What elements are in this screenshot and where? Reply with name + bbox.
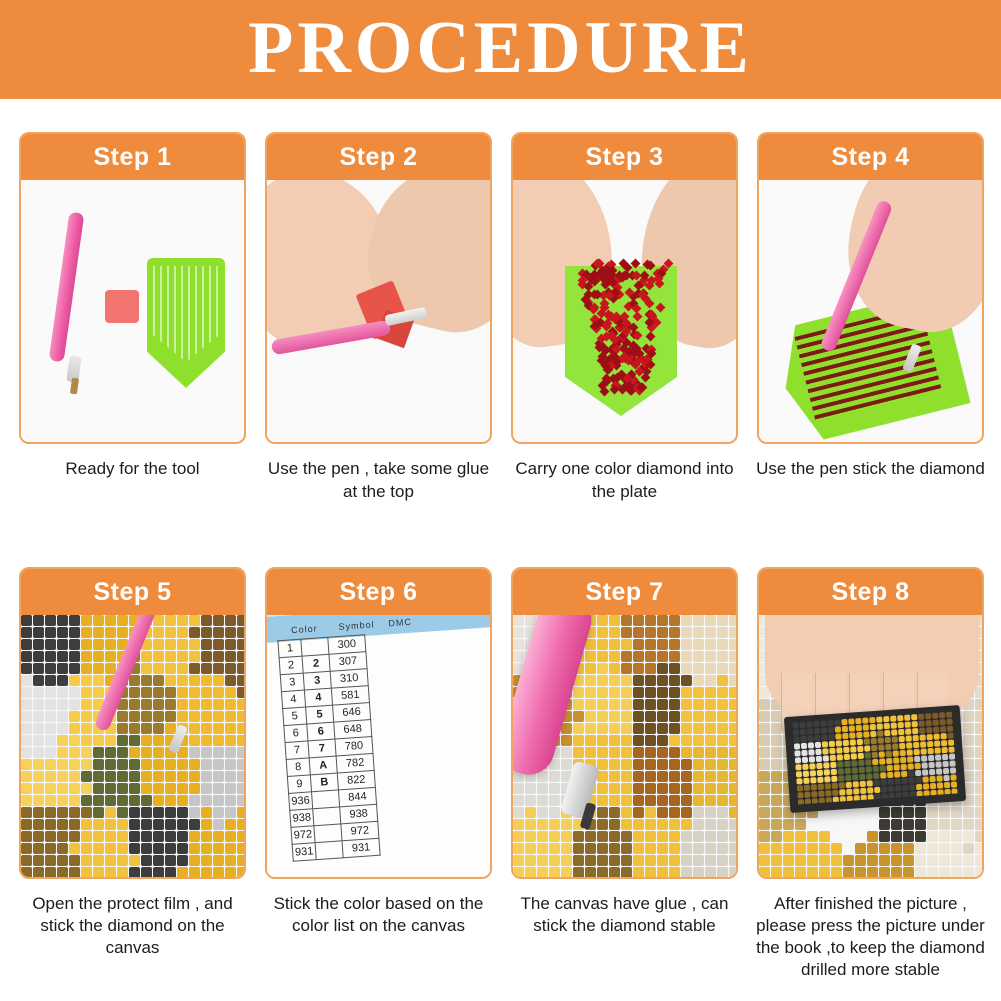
diamond-bead bbox=[795, 867, 806, 877]
diamond-bead bbox=[21, 759, 32, 770]
diamond-bead bbox=[669, 663, 680, 674]
chart-row-symbol: 5 bbox=[306, 705, 334, 724]
diamond-bead bbox=[237, 819, 244, 830]
diamond-bead bbox=[926, 734, 932, 740]
pen-nib-icon bbox=[70, 378, 79, 395]
diamond-bead bbox=[225, 687, 236, 698]
diamond-bead bbox=[225, 675, 236, 686]
diamond-bead bbox=[129, 843, 140, 854]
step-card-3: Step 3 Carry one color diamond into the … bbox=[511, 132, 738, 504]
diamond-bead bbox=[831, 843, 842, 854]
diamond-bead bbox=[895, 785, 901, 791]
diamond-bead bbox=[117, 735, 128, 746]
diamond-bead bbox=[45, 819, 56, 830]
diamond-bead bbox=[201, 759, 212, 770]
diamond-bead bbox=[975, 747, 982, 758]
diamond-bead bbox=[798, 799, 804, 804]
diamond-bead bbox=[903, 855, 914, 866]
diamond-bead bbox=[165, 843, 176, 854]
diamond-bead bbox=[537, 867, 548, 877]
diamond-bead bbox=[915, 819, 926, 830]
diamond-bead bbox=[513, 639, 524, 650]
diamond-bead bbox=[33, 771, 44, 782]
diamond-bead bbox=[201, 651, 212, 662]
diamond-bead bbox=[855, 831, 866, 842]
diamond-bead bbox=[585, 663, 596, 674]
diamond-bead bbox=[237, 699, 244, 710]
diamond-bead bbox=[93, 867, 104, 877]
diamond-bead bbox=[57, 843, 68, 854]
diamond-bead bbox=[878, 737, 884, 743]
diamond-bead bbox=[912, 728, 918, 734]
diamond-bead bbox=[585, 735, 596, 746]
diamond-bead bbox=[900, 750, 906, 756]
diamond-bead bbox=[759, 855, 770, 866]
diamond-bead bbox=[951, 807, 962, 818]
diamond-bead bbox=[898, 722, 904, 728]
diamond-bead bbox=[915, 770, 921, 776]
diamond-bead bbox=[597, 651, 608, 662]
diamond-bead bbox=[940, 733, 946, 739]
step-2-caption: Use the pen , take some glue at the top bbox=[263, 458, 494, 504]
diamond-bead bbox=[21, 663, 32, 674]
diamond-bead bbox=[669, 843, 680, 854]
diamond-bead bbox=[105, 639, 116, 650]
diamond-bead bbox=[927, 819, 938, 830]
diamond-bead bbox=[213, 711, 224, 722]
diamond-bead bbox=[645, 627, 656, 638]
diamond-bead bbox=[717, 819, 728, 830]
diamond-bead bbox=[947, 725, 953, 731]
diamond-bead bbox=[792, 722, 798, 728]
diamond-bead bbox=[57, 639, 68, 650]
diamond-bead bbox=[934, 740, 940, 746]
diamond-bead bbox=[69, 639, 80, 650]
diamond-bead bbox=[69, 675, 80, 686]
diamond-bead bbox=[827, 720, 833, 726]
chart-row-number: 8 bbox=[286, 758, 310, 777]
diamond-bead bbox=[934, 747, 940, 753]
diamond-bead bbox=[129, 747, 140, 758]
diamond-bead bbox=[57, 771, 68, 782]
diamond-bead bbox=[860, 788, 866, 794]
diamond-bead bbox=[225, 855, 236, 866]
diamond-bead bbox=[904, 714, 910, 720]
diamond-bead bbox=[891, 819, 902, 830]
diamond-bead bbox=[621, 867, 632, 877]
chart-row-symbol: 3 bbox=[303, 671, 331, 690]
diamond-bead bbox=[621, 735, 632, 746]
chart-row-symbol: 2 bbox=[302, 654, 330, 673]
diamond-bead bbox=[513, 783, 524, 794]
diamond-bead bbox=[927, 831, 938, 842]
diamond-bead bbox=[804, 785, 810, 791]
diamond-bead bbox=[69, 855, 80, 866]
diamond-bead bbox=[609, 675, 620, 686]
diamond-bead bbox=[669, 639, 680, 650]
diamond-bead bbox=[237, 735, 244, 746]
diamond-bead bbox=[585, 675, 596, 686]
diamond-bead bbox=[783, 819, 794, 830]
diamond-bead bbox=[609, 687, 620, 698]
diamond-bead bbox=[681, 759, 692, 770]
diamond-bead bbox=[153, 615, 164, 626]
diamond-bead bbox=[831, 769, 837, 775]
diamond-bead bbox=[939, 843, 950, 854]
wax-block-icon bbox=[105, 290, 139, 323]
diamond-bead bbox=[621, 651, 632, 662]
diamond-bead bbox=[810, 777, 816, 783]
diamond-bead bbox=[621, 747, 632, 758]
diamond-bead bbox=[57, 615, 68, 626]
diamond-bead bbox=[867, 831, 878, 842]
diamond-bead bbox=[823, 755, 829, 761]
diamond-bead bbox=[963, 819, 974, 830]
diamond-bead bbox=[237, 855, 244, 866]
diamond-bead bbox=[633, 687, 644, 698]
diamond-bead bbox=[213, 783, 224, 794]
diamond-bead bbox=[901, 771, 907, 777]
diamond-bead bbox=[870, 731, 876, 737]
framed-canvas bbox=[792, 712, 957, 805]
diamond-bead bbox=[513, 855, 524, 866]
diamond-bead bbox=[525, 783, 536, 794]
diamond-bead bbox=[867, 780, 873, 786]
diamond-bead bbox=[141, 807, 152, 818]
diamond-bead bbox=[681, 855, 692, 866]
diamond-bead bbox=[237, 831, 244, 842]
diamond-bead bbox=[867, 855, 878, 866]
diamond-bead bbox=[851, 753, 857, 759]
diamond-bead bbox=[645, 747, 656, 758]
diamond-bead bbox=[831, 819, 842, 830]
diamond-bead bbox=[645, 299, 655, 309]
diamond-bead bbox=[549, 807, 560, 818]
diamond-bead bbox=[33, 735, 44, 746]
diamond-bead bbox=[705, 867, 716, 877]
diamond-bead bbox=[705, 615, 716, 626]
diamond-bead bbox=[681, 711, 692, 722]
diamond-bead bbox=[927, 843, 938, 854]
diamond-bead bbox=[537, 795, 548, 806]
diamond-bead bbox=[45, 699, 56, 710]
diamond-bead bbox=[597, 771, 608, 782]
diamond-bead bbox=[141, 795, 152, 806]
diamond-bead bbox=[717, 855, 728, 866]
diamond-bead bbox=[225, 615, 236, 626]
diamond-bead bbox=[645, 615, 656, 626]
diamond-bead bbox=[177, 795, 188, 806]
diamond-bead bbox=[45, 687, 56, 698]
diamond-bead bbox=[141, 831, 152, 842]
diamond-bead bbox=[705, 663, 716, 674]
diamond-bead bbox=[913, 742, 919, 748]
step-2-badge: Step 2 bbox=[267, 134, 490, 180]
diamond-bead bbox=[201, 747, 212, 758]
diamond-bead bbox=[930, 783, 936, 789]
diamond-bead bbox=[165, 759, 176, 770]
diamond-bead bbox=[925, 720, 931, 726]
diamond-bead bbox=[943, 768, 949, 774]
diamond-bead bbox=[932, 719, 938, 725]
diamond-bead bbox=[879, 831, 890, 842]
diamond-bead bbox=[802, 757, 808, 763]
diamond-bead bbox=[213, 687, 224, 698]
diamond-bead bbox=[189, 651, 200, 662]
diamond-bead bbox=[153, 831, 164, 842]
diamond-bead bbox=[901, 778, 907, 784]
diamond-bead bbox=[880, 765, 886, 771]
diamond-bead bbox=[69, 771, 80, 782]
diamond-bead bbox=[645, 819, 656, 830]
diamond-bead bbox=[597, 699, 608, 710]
diamond-bead bbox=[153, 795, 164, 806]
diamond-bead bbox=[33, 747, 44, 758]
diamond-bead bbox=[93, 843, 104, 854]
diamond-bead bbox=[633, 831, 644, 842]
diamond-bead bbox=[872, 759, 878, 765]
diamond-bead bbox=[153, 675, 164, 686]
diamond-bead bbox=[705, 675, 716, 686]
step-5-caption: Open the protect film , and stick the di… bbox=[17, 893, 248, 959]
diamond-bead bbox=[189, 711, 200, 722]
diamond-bead bbox=[141, 759, 152, 770]
diamond-bead bbox=[903, 867, 914, 877]
press-under-book-photo bbox=[759, 615, 982, 877]
diamond-bead bbox=[33, 783, 44, 794]
diamond-bead bbox=[883, 716, 889, 722]
diamond-bead bbox=[201, 675, 212, 686]
diamond-bead bbox=[717, 843, 728, 854]
diamond-bead bbox=[794, 750, 800, 756]
chart-row-number: 3 bbox=[280, 673, 304, 692]
diamond-bead bbox=[681, 639, 692, 650]
diamond-bead bbox=[811, 784, 817, 790]
diamond-bead bbox=[693, 699, 704, 710]
diamond-bead bbox=[153, 627, 164, 638]
diamond-bead bbox=[892, 736, 898, 742]
diamond-bead bbox=[902, 785, 908, 791]
diamond-bead bbox=[621, 771, 632, 782]
diamond-bead bbox=[153, 639, 164, 650]
diamond-bead bbox=[549, 867, 560, 877]
diamond-bead bbox=[832, 783, 838, 789]
diamond-bead bbox=[525, 855, 536, 866]
diamond-bead bbox=[117, 771, 128, 782]
diamond-bead bbox=[141, 819, 152, 830]
diamond-bead bbox=[705, 855, 716, 866]
diamond-bead bbox=[771, 867, 782, 877]
diamond-bead bbox=[213, 699, 224, 710]
diamond-bead bbox=[771, 771, 782, 782]
chart-row-symbol: B bbox=[310, 773, 338, 792]
diamond-bead bbox=[609, 783, 620, 794]
chart-row-number: 7 bbox=[285, 741, 309, 760]
diamond-bead bbox=[887, 765, 893, 771]
diamond-bead bbox=[729, 843, 736, 854]
diamond-bead bbox=[141, 699, 152, 710]
diamond-bead bbox=[621, 675, 632, 686]
diamond-bead bbox=[951, 781, 957, 787]
diamond-bead bbox=[525, 867, 536, 877]
diamond-bead bbox=[975, 831, 982, 842]
diamond-bead bbox=[189, 687, 200, 698]
diamond-bead bbox=[681, 819, 692, 830]
diamond-bead bbox=[597, 783, 608, 794]
diamond-bead bbox=[21, 687, 32, 698]
diamond-bead bbox=[919, 720, 925, 726]
diamond-bead bbox=[771, 855, 782, 866]
diamond-bead bbox=[717, 675, 728, 686]
diamond-bead bbox=[189, 843, 200, 854]
diamond-bead bbox=[693, 723, 704, 734]
diamond-bead bbox=[45, 807, 56, 818]
diamond-bead bbox=[863, 731, 869, 737]
diamond-bead bbox=[201, 687, 212, 698]
diamond-bead bbox=[887, 772, 893, 778]
diamond-bead bbox=[865, 759, 871, 765]
diamond-bead bbox=[213, 795, 224, 806]
diamond-bead bbox=[585, 723, 596, 734]
diamond-bead bbox=[975, 795, 982, 806]
diamond-bead bbox=[832, 790, 838, 796]
diamond-bead bbox=[513, 843, 524, 854]
diamond-bead bbox=[609, 735, 620, 746]
diamond-bead bbox=[21, 627, 32, 638]
diamond-bead bbox=[898, 729, 904, 735]
diamond-bead bbox=[857, 739, 863, 745]
diamond-bead bbox=[597, 795, 608, 806]
diamond-bead bbox=[669, 855, 680, 866]
diamond-bead bbox=[942, 754, 948, 760]
diamond-bead bbox=[93, 615, 104, 626]
diamond-bead bbox=[225, 735, 236, 746]
diamond-bead bbox=[657, 783, 668, 794]
diamond-bead bbox=[513, 651, 524, 662]
diamond-bead bbox=[141, 783, 152, 794]
diamond-bead bbox=[807, 843, 818, 854]
diamond-bead bbox=[201, 711, 212, 722]
diamond-bead bbox=[177, 771, 188, 782]
diamond-bead bbox=[951, 855, 962, 866]
diamond-bead bbox=[21, 675, 32, 686]
diamond-bead bbox=[21, 843, 32, 854]
step-card-2-box: Step 2 bbox=[265, 132, 492, 444]
diamond-bead bbox=[225, 795, 236, 806]
diamond-bead bbox=[759, 867, 770, 877]
diamond-bead bbox=[633, 771, 644, 782]
step-card-7-box: Step 7 bbox=[511, 567, 738, 879]
diamond-bead bbox=[69, 711, 80, 722]
diamond-bead bbox=[69, 723, 80, 734]
diamond-bead bbox=[573, 747, 584, 758]
diamond-bead bbox=[57, 831, 68, 842]
diamond-bead bbox=[913, 735, 919, 741]
diamond-bead bbox=[951, 867, 962, 877]
diamond-bead bbox=[759, 831, 770, 842]
diamond-bead bbox=[633, 759, 644, 770]
diamond-bead bbox=[177, 831, 188, 842]
diamond-bead bbox=[729, 711, 736, 722]
diamond-bead bbox=[963, 867, 974, 877]
diamond-bead bbox=[525, 795, 536, 806]
diamond-bead bbox=[852, 767, 858, 773]
diamond-bead bbox=[573, 855, 584, 866]
diamond-bead bbox=[800, 729, 806, 735]
diamond-bead bbox=[165, 807, 176, 818]
diamond-bead bbox=[657, 819, 668, 830]
diamond-bead bbox=[45, 855, 56, 866]
diamond-bead bbox=[873, 766, 879, 772]
diamond-bead bbox=[645, 651, 656, 662]
diamond-bead bbox=[669, 771, 680, 782]
diamond-bead bbox=[939, 719, 945, 725]
diamond-bead bbox=[621, 687, 632, 698]
diamond-bead bbox=[950, 774, 956, 780]
diamond-bead bbox=[939, 712, 945, 718]
diamond-bead bbox=[69, 747, 80, 758]
diamond-bead bbox=[633, 711, 644, 722]
diamond-bead bbox=[573, 843, 584, 854]
diamond-bead bbox=[771, 807, 782, 818]
diamond-bead bbox=[165, 639, 176, 650]
diamond-bead bbox=[783, 843, 794, 854]
diamond-bead bbox=[681, 795, 692, 806]
diamond-bead bbox=[631, 304, 641, 314]
diamond-bead bbox=[81, 843, 92, 854]
diamond-bead bbox=[693, 831, 704, 842]
diamond-bead bbox=[892, 743, 898, 749]
diamond-bead bbox=[815, 742, 821, 748]
diamond-bead bbox=[201, 855, 212, 866]
diamond-bead bbox=[818, 791, 824, 797]
diamond-bead bbox=[225, 759, 236, 770]
diamond-bead bbox=[729, 627, 736, 638]
diamond-bead bbox=[886, 758, 892, 764]
diamond-bead bbox=[891, 843, 902, 854]
diamond-bead bbox=[633, 843, 644, 854]
diamond-bead bbox=[933, 726, 939, 732]
diamond-bead bbox=[201, 735, 212, 746]
diamond-bead bbox=[717, 687, 728, 698]
diamond-bead bbox=[645, 723, 656, 734]
diamond-bead bbox=[153, 759, 164, 770]
diamond-bead bbox=[806, 721, 812, 727]
diamond-bead bbox=[81, 867, 92, 877]
diamond-bead bbox=[153, 687, 164, 698]
diamond-bead bbox=[117, 783, 128, 794]
diamond-bead bbox=[795, 757, 801, 763]
diamond-bead bbox=[153, 843, 164, 854]
diamond-bead bbox=[237, 675, 244, 686]
diamond-bead bbox=[849, 725, 855, 731]
diamond-bead bbox=[633, 867, 644, 877]
diamond-bead bbox=[45, 771, 56, 782]
diamond-bead bbox=[897, 715, 903, 721]
diamond-bead bbox=[141, 711, 152, 722]
diamond-bead bbox=[869, 717, 875, 723]
diamond-bead bbox=[975, 843, 982, 854]
diamond-bead bbox=[93, 831, 104, 842]
diamond-bead bbox=[165, 867, 176, 877]
diamond-bead bbox=[800, 736, 806, 742]
diamond-bead bbox=[879, 819, 890, 830]
diamond-bead bbox=[213, 627, 224, 638]
diamond-bead bbox=[33, 723, 44, 734]
diamond-bead bbox=[729, 831, 736, 842]
diamond-bead bbox=[669, 687, 680, 698]
diamond-bead bbox=[21, 771, 32, 782]
